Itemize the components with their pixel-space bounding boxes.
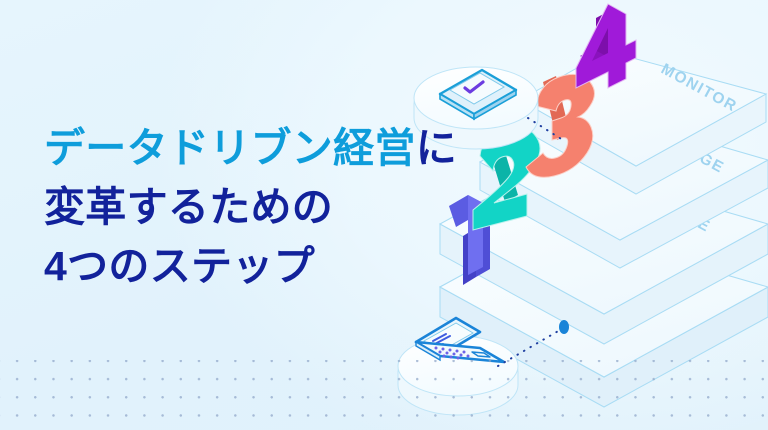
headline-line-3: 4つのステップ [44, 246, 514, 287]
connector-node [559, 320, 569, 334]
headline-line-2: 変革するための [44, 187, 514, 228]
headline-line-1-main: データドリブン経営 [44, 125, 416, 171]
banner-root: BUILD SECURE MANAGE MONITOR [0, 0, 768, 430]
headline-line-1-tail: に [416, 125, 457, 171]
headline-line-1: データドリブン経営に [44, 128, 514, 169]
page-title: データドリブン経営に 変革するための 4つのステップ [44, 128, 514, 287]
